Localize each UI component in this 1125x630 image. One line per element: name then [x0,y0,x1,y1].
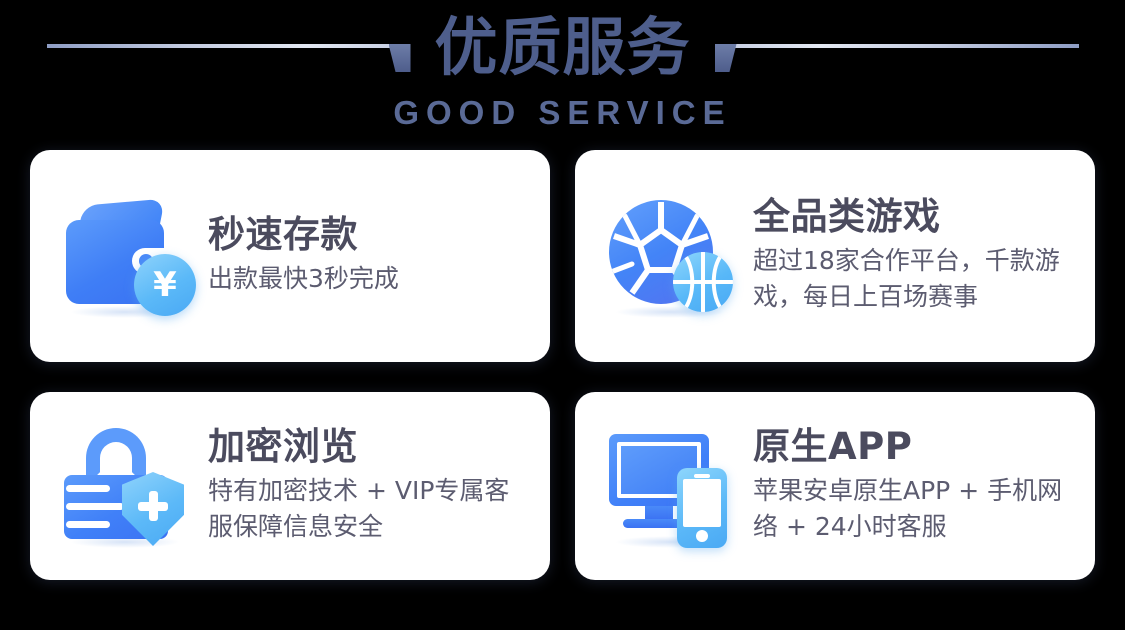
card-title: 全品类游戏 [753,196,1071,239]
feature-card-games[interactable]: 全品类游戏 超过18家合作平台，千款游戏，每日上百场赛事 [575,150,1095,362]
lock-shield-icon [60,420,192,552]
deco-line-right-icon [734,44,1079,48]
phone-home-button-icon [696,530,708,542]
card-text-block: 全品类游戏 超过18家合作平台，千款游戏，每日上百场赛事 [753,196,1071,316]
soccer-basketball-icon [605,190,737,322]
decoration-right [705,22,1089,74]
card-description: 特有加密技术 + VIP专属客服保障信息安全 [208,473,526,546]
monitor-phone-icon [605,420,737,552]
yen-coin-icon: ¥ [134,254,196,316]
lock-slot-icon [66,521,110,528]
card-description: 苹果安卓原生APP + 手机网络 + 24小时客服 [753,473,1071,546]
deco-line-left-icon [47,44,392,48]
basketball-icon [673,252,733,312]
feature-card-grid: ¥ 秒速存款 出款最快3秒完成 [30,150,1095,580]
card-title: 秒速存款 [208,214,526,257]
card-description: 超过18家合作平台，千款游戏，每日上百场赛事 [753,243,1071,316]
page-header: 优质服务 GOOD SERVICE [0,0,1125,146]
title-block: 优质服务 [421,15,705,81]
feature-card-deposit[interactable]: ¥ 秒速存款 出款最快3秒完成 [30,150,550,362]
plus-icon [138,491,168,521]
monitor-neck-icon [645,506,673,520]
page-title: 优质服务 [435,15,691,81]
lock-slot-icon [66,485,110,492]
card-text-block: 原生APP 苹果安卓原生APP + 手机网络 + 24小时客服 [753,426,1071,546]
lock-slot-icon [66,503,124,510]
card-description: 出款最快3秒完成 [208,261,526,298]
page-subtitle: GOOD SERVICE [0,96,1125,129]
card-title: 加密浏览 [208,426,526,469]
header-title-row: 优质服务 [0,0,1125,96]
card-title: 原生APP [753,426,1071,469]
feature-card-native-app[interactable]: 原生APP 苹果安卓原生APP + 手机网络 + 24小时客服 [575,392,1095,580]
phone-icon [677,468,727,548]
phone-screen-icon [683,479,721,527]
phone-speaker-icon [694,474,710,478]
promo-page: 优质服务 GOOD SERVICE ¥ 秒速存款 出款最快3秒完成 [0,0,1125,630]
card-text-block: 秒速存款 出款最快3秒完成 [208,214,526,297]
feature-card-encryption[interactable]: 加密浏览 特有加密技术 + VIP专属客服保障信息安全 [30,392,550,580]
deco-slant-right-icon [715,44,737,72]
deco-slant-left-icon [389,44,411,72]
wallet-yen-icon: ¥ [60,190,192,322]
card-text-block: 加密浏览 特有加密技术 + VIP专属客服保障信息安全 [208,426,526,546]
decoration-left [37,22,421,74]
